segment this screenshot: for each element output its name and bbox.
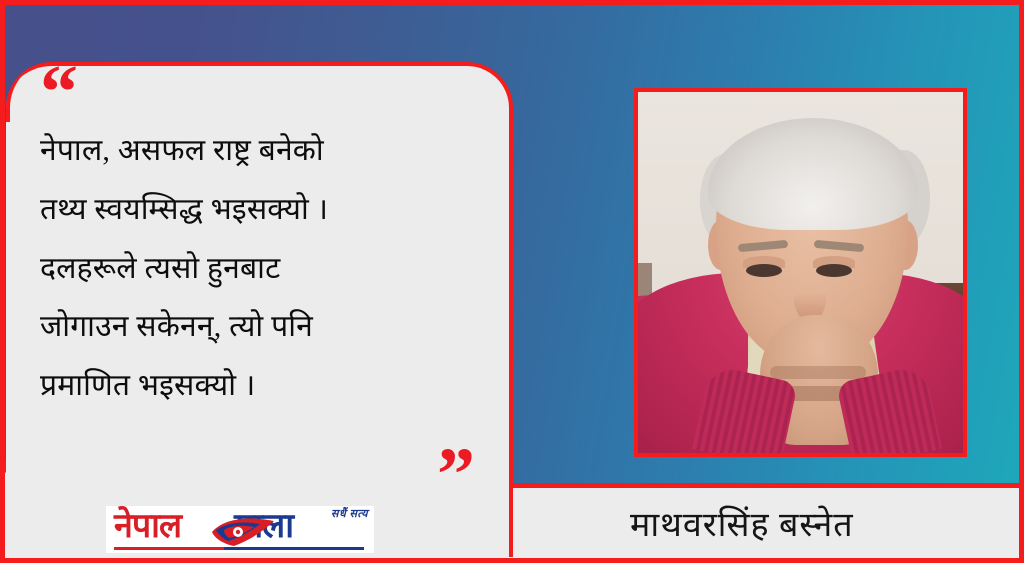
quote-line: नेपाल, असफल राष्ट्र बनेको [40, 122, 495, 181]
portrait-eye-left [746, 264, 782, 277]
quote-graphic-canvas: “ नेपाल, असफल राष्ट्र बनेको तथ्य स्वयम्स… [0, 0, 1024, 563]
publisher-logo[interactable]: नेपाल माला सधैं सत्य [106, 506, 374, 553]
opening-quote-icon: “ [40, 72, 510, 118]
quote-content: “ नेपाल, असफल राष्ट्र बनेको तथ्य स्वयम्स… [40, 72, 510, 416]
logo-artwork: नेपाल माला सधैं सत्य [106, 506, 374, 553]
quote-line: प्रमाणित भइसक्यो । [40, 357, 495, 416]
portrait-finger-line [770, 366, 866, 379]
quote-line: दलहरूले त्यसो हुनबाट [40, 240, 495, 299]
logo-tagline: सधैं सत्य [331, 506, 368, 521]
speaker-portrait [634, 88, 967, 457]
quote-text: नेपाल, असफल राष्ट्र बनेको तथ्य स्वयम्सिद… [40, 122, 495, 416]
quote-line: तथ्य स्वयम्सिद्ध भइसक्यो । [40, 181, 495, 240]
logo-word-nepal: नेपाल [114, 510, 181, 544]
footer-bar: नेपाल माला सधैं सत्य माथवरसिंह बस्नेत [0, 488, 1024, 563]
speaker-name: माथवरसिंह बस्नेत [630, 500, 854, 546]
portrait-image [638, 92, 963, 453]
nepal-flag-icon [210, 516, 276, 550]
quote-line: जोगाउन सकेनन्, त्यो पनि [40, 298, 495, 357]
